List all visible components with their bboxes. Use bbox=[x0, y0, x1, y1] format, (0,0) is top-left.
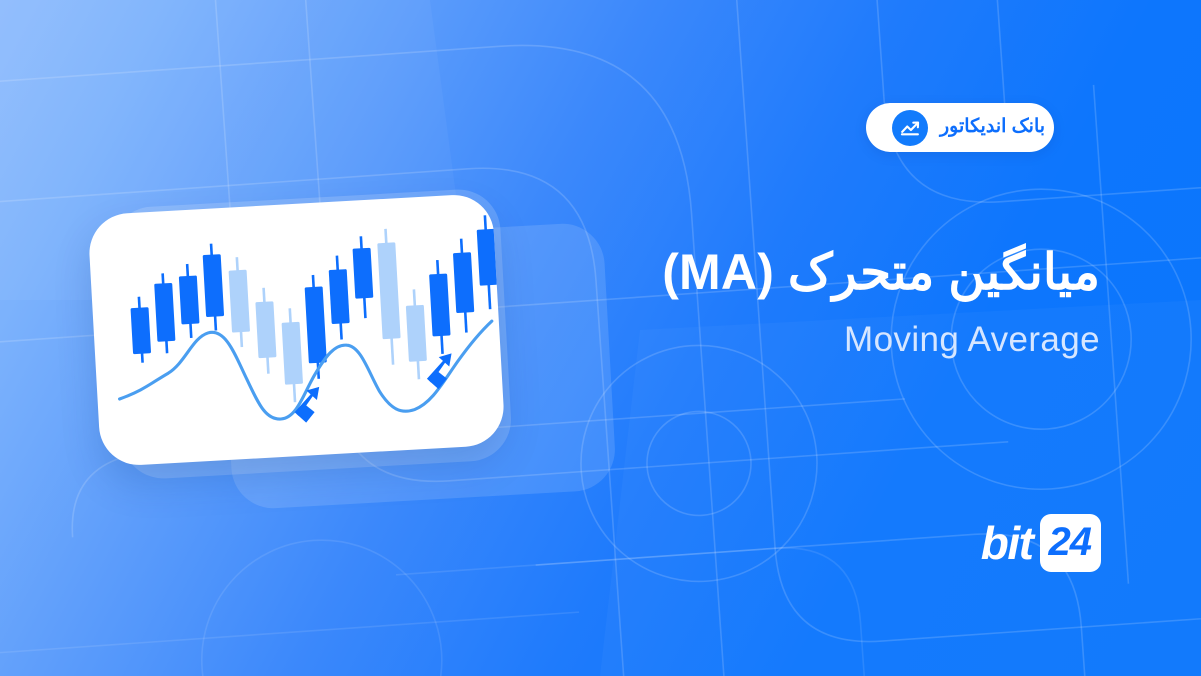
indicator-bank-badge[interactable]: بانک اندیکاتور bbox=[866, 103, 1054, 152]
candlestick-chart-card bbox=[87, 193, 505, 467]
logo-chip: 24 bbox=[1040, 514, 1102, 572]
badge-label: بانک اندیکاتور bbox=[940, 117, 1045, 138]
candlestick-chart bbox=[87, 193, 505, 467]
promo-banner: بانک اندیکاتور میانگین متحرک (MA) Moving… bbox=[0, 0, 1201, 676]
logo-wordmark: bit bbox=[981, 520, 1033, 566]
line-chart-icon bbox=[892, 110, 928, 146]
illustration-card-wrapper bbox=[86, 186, 526, 486]
bit24-logo: bit 24 bbox=[981, 514, 1101, 572]
